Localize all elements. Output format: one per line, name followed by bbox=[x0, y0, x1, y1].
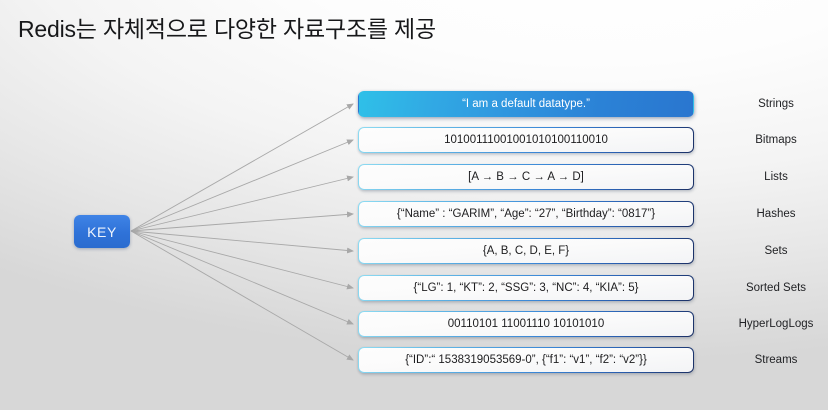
datatype-value-box[interactable]: 10100111001001010100110010 bbox=[358, 127, 694, 153]
datatype-value-box[interactable]: {“Name” : “GARIM”, “Age”: “27”, “Birthda… bbox=[358, 201, 694, 227]
datatype-label: Lists bbox=[712, 164, 828, 190]
datatype-label: Streams bbox=[712, 347, 828, 373]
key-node-label: KEY bbox=[87, 224, 117, 240]
datatype-row: {“Name” : “GARIM”, “Age”: “27”, “Birthda… bbox=[358, 201, 694, 227]
connector-line-streams bbox=[131, 231, 353, 360]
datatype-row: “I am a default datatype.” Strings bbox=[358, 91, 694, 117]
datatype-label: HyperLogLogs bbox=[712, 311, 828, 337]
slide-canvas: Redis는 자체적으로 다양한 자료구조를 제공 KEY “I am a de… bbox=[0, 0, 828, 410]
connector-line-hyperloglogs bbox=[131, 231, 353, 324]
datatype-value-box[interactable]: 00110101 11001110 10101010 bbox=[358, 311, 694, 337]
connector-line-strings bbox=[131, 104, 353, 231]
datatype-value-box[interactable]: “I am a default datatype.” bbox=[358, 91, 694, 117]
key-node[interactable]: KEY bbox=[74, 215, 130, 248]
datatype-row: 10100111001001010100110010 Bitmaps bbox=[358, 127, 694, 153]
datatype-row: {“LG”: 1, “KT”: 2, “SSG”: 3, “NC”: 4, “K… bbox=[358, 275, 694, 301]
connector-line-sorted-sets bbox=[131, 231, 353, 288]
datatype-row: 00110101 11001110 10101010 HyperLogLogs bbox=[358, 311, 694, 337]
datatype-row: {“ID”:“ 1538319053569-0”, {“f1”: “v1”, “… bbox=[358, 347, 694, 373]
datatype-value-box[interactable]: [A → B → C → A → D] bbox=[358, 164, 694, 190]
datatype-label: Strings bbox=[712, 91, 828, 117]
datatype-label: Bitmaps bbox=[712, 127, 828, 153]
datatype-label: Hashes bbox=[712, 201, 828, 227]
datatype-value-box[interactable]: {“ID”:“ 1538319053569-0”, {“f1”: “v1”, “… bbox=[358, 347, 694, 373]
datatype-value-box[interactable]: {“LG”: 1, “KT”: 2, “SSG”: 3, “NC”: 4, “K… bbox=[358, 275, 694, 301]
datatype-label: Sorted Sets bbox=[712, 275, 828, 301]
datatype-value-box[interactable]: {A, B, C, D, E, F} bbox=[358, 238, 694, 264]
connector-line-sets bbox=[131, 231, 353, 251]
datatype-row: [A → B → C → A → D] Lists bbox=[358, 164, 694, 190]
datatype-row: {A, B, C, D, E, F} Sets bbox=[358, 238, 694, 264]
datatype-label: Sets bbox=[712, 238, 828, 264]
